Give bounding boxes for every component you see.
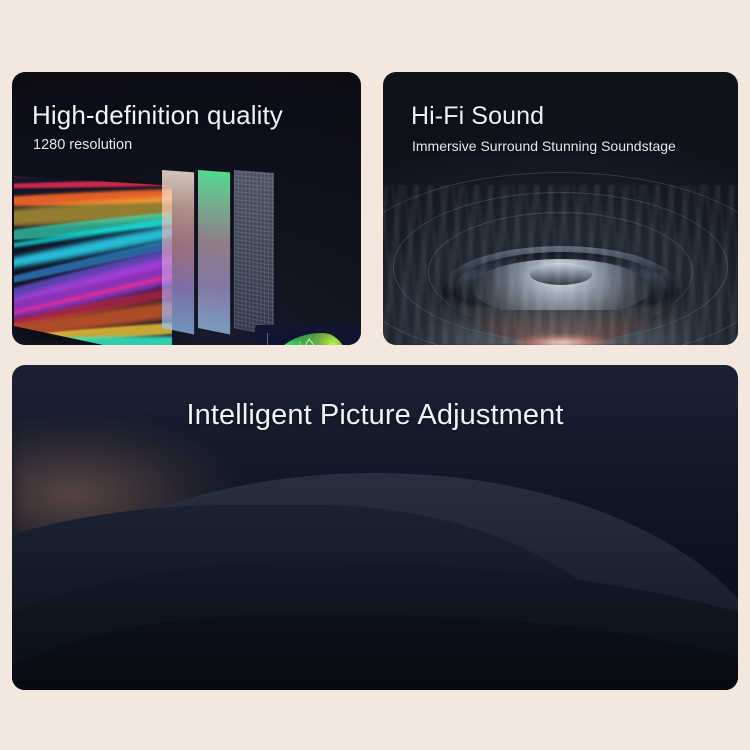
tv-screen-wave	[14, 176, 172, 345]
card-hifi-sound-title: Hi-Fi Sound	[411, 102, 544, 131]
promo-board: 100% High-definition quality 1280 resolu…	[0, 0, 750, 750]
card-intelligent-picture[interactable]: Auto Correction Auto Focus Intelligent P…	[12, 365, 738, 690]
gamut-y-axis	[267, 333, 268, 345]
panel-layer-color-filter	[162, 170, 194, 334]
cie-gamut-chart-icon: 100%	[255, 325, 361, 345]
display-panel-illustration	[12, 168, 361, 345]
gamut-triangle	[269, 333, 351, 345]
card-hifi-sound-subtitle: Immersive Surround Stunning Soundstage	[412, 138, 676, 154]
panel-layer-pixel-matrix	[234, 170, 274, 336]
card-hifi-sound[interactable]: Hi-Fi Sound Immersive Surround Stunning …	[383, 72, 738, 345]
card-intelligent-picture-title: Intelligent Picture Adjustment	[12, 399, 738, 432]
panel-layer-backlight	[198, 170, 230, 334]
card-high-definition[interactable]: 100% High-definition quality 1280 resolu…	[12, 72, 361, 345]
mist-layer	[383, 185, 738, 345]
card-high-definition-title: High-definition quality	[32, 100, 283, 131]
card-high-definition-subtitle: 1280 resolution	[33, 137, 132, 153]
